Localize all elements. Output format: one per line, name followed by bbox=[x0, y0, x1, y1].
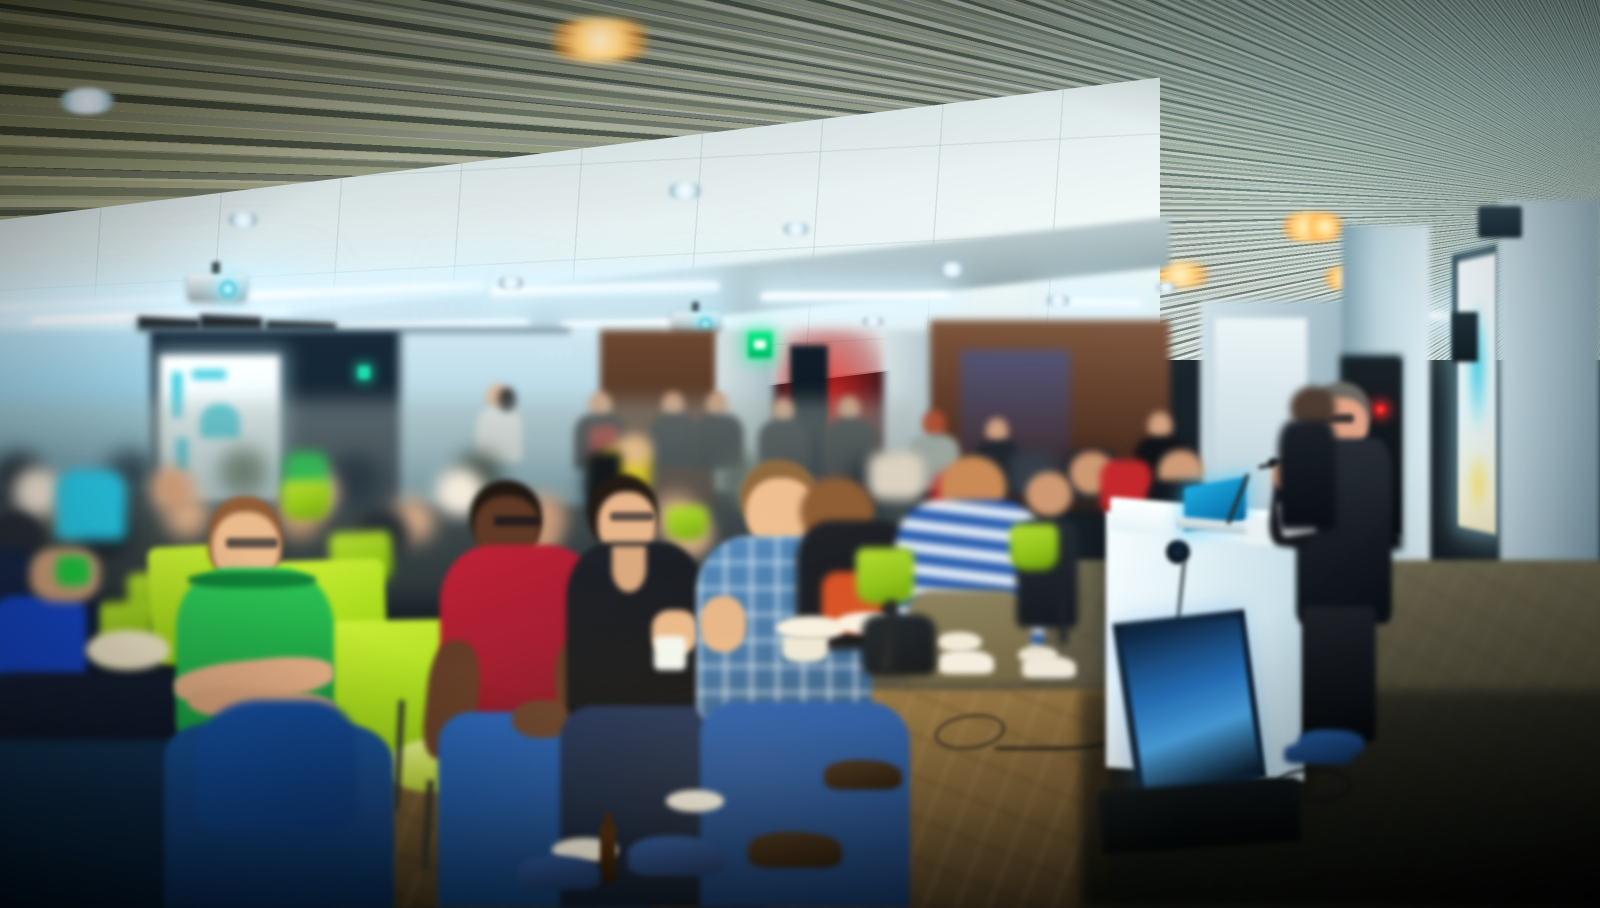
shoe bbox=[824, 760, 902, 790]
rear-screen-graphic bbox=[192, 370, 226, 379]
attendee-torso bbox=[1278, 420, 1336, 530]
can-light bbox=[58, 88, 116, 114]
can-light bbox=[938, 262, 966, 277]
fluorescent-strip bbox=[760, 292, 950, 302]
attendee-glasses bbox=[226, 538, 278, 548]
can-light bbox=[783, 222, 809, 236]
wall-speaker-bracket bbox=[1478, 206, 1522, 238]
paper-plate bbox=[936, 632, 982, 652]
attendee-head bbox=[1026, 472, 1072, 516]
chair bbox=[666, 506, 708, 540]
attendee-light-shirt bbox=[868, 452, 924, 500]
confidence-monitor bbox=[1121, 618, 1259, 799]
paper-plate bbox=[666, 790, 724, 812]
ceiling-downlight bbox=[540, 18, 660, 62]
shoe bbox=[518, 856, 600, 890]
rear-signage bbox=[540, 350, 574, 357]
ceiling-downlight bbox=[1305, 212, 1345, 242]
shoe-white bbox=[1022, 656, 1076, 678]
rack-led-red bbox=[1375, 404, 1386, 415]
attendee-jeans bbox=[700, 702, 910, 908]
chair bbox=[1010, 524, 1058, 570]
can-light bbox=[498, 276, 524, 290]
presenter-shoe bbox=[1284, 742, 1354, 764]
lectern-control-knob bbox=[1166, 540, 1190, 564]
attendee-hand bbox=[700, 596, 746, 652]
floor-cable-loop bbox=[1276, 768, 1352, 802]
beer-bottle-neck bbox=[604, 812, 612, 830]
can-light bbox=[1046, 294, 1070, 307]
can-light bbox=[1156, 282, 1176, 293]
can-light bbox=[228, 212, 258, 228]
far-right-wall bbox=[1500, 200, 1600, 620]
beer-bottle bbox=[600, 824, 616, 882]
shoe-white bbox=[938, 650, 994, 674]
vneck-skin bbox=[612, 546, 646, 592]
attendee-cyan-shirt bbox=[56, 470, 126, 540]
drink-cup bbox=[56, 556, 90, 586]
conference-photograph: Tech conference talk in a modern office … bbox=[0, 0, 1600, 908]
attendee-glasses bbox=[494, 516, 540, 526]
drink-cup bbox=[654, 636, 686, 670]
shoe bbox=[628, 836, 724, 876]
chair bbox=[281, 479, 330, 521]
paper-plate bbox=[86, 630, 170, 670]
tee-collar-trim bbox=[188, 572, 316, 588]
chair bbox=[856, 548, 914, 604]
presenter-trousers bbox=[1302, 606, 1376, 742]
exit-sign-secondary bbox=[358, 366, 370, 379]
paper-cup bbox=[782, 636, 828, 662]
projector-lens-icon bbox=[220, 281, 236, 297]
backpack bbox=[862, 614, 936, 676]
can-light bbox=[862, 316, 884, 327]
ceiling-projector bbox=[188, 274, 246, 300]
slide-yellow-graphic bbox=[1466, 451, 1491, 516]
shoe bbox=[748, 832, 842, 868]
exit-sign-glyph-icon bbox=[754, 340, 766, 349]
wall-speaker bbox=[1452, 312, 1478, 362]
can-light bbox=[668, 182, 702, 200]
draped-jacket bbox=[196, 700, 356, 830]
attendee-glasses bbox=[610, 512, 654, 521]
